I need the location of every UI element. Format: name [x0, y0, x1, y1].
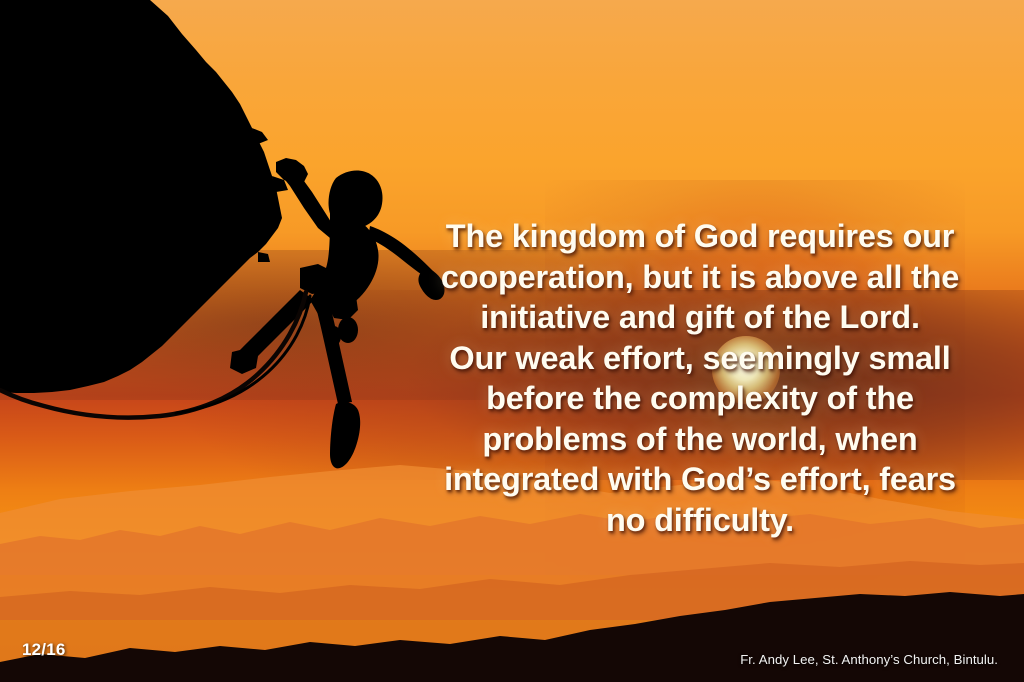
page-number: 12/16 [22, 640, 66, 660]
slide-canvas: The kingdom of God requires our cooperat… [0, 0, 1024, 682]
attribution-text: Fr. Andy Lee, St. Anthony’s Church, Bint… [740, 652, 998, 667]
quote-text: The kingdom of God requires our cooperat… [424, 216, 976, 540]
rock-overhang [0, 0, 282, 393]
climber-gripping-arm [282, 168, 336, 238]
climber-shoe [330, 402, 360, 468]
